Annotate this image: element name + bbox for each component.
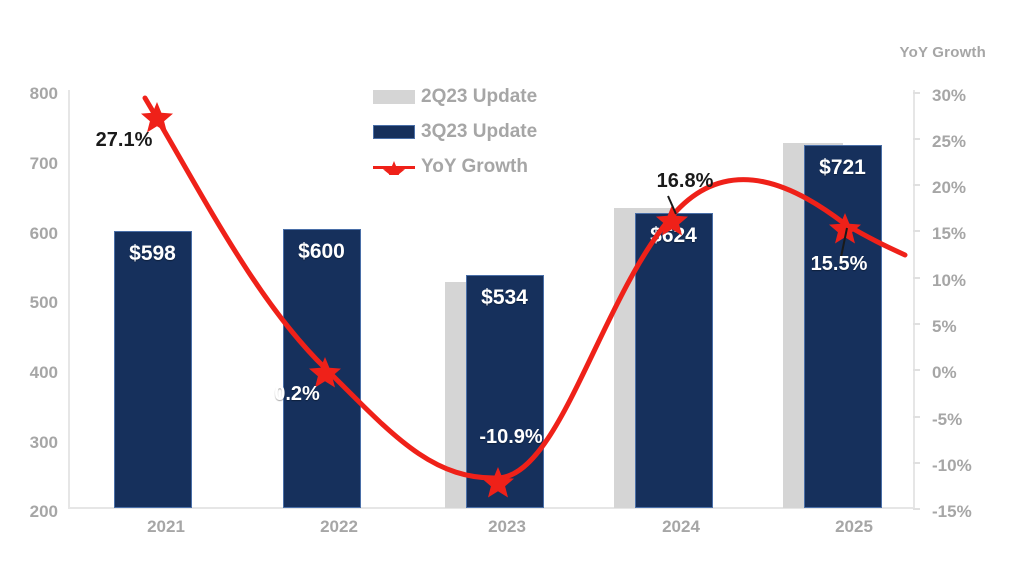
bar-3q23-2024 — [635, 213, 713, 508]
x-axis-tick-2022: 2022 — [279, 518, 399, 535]
y-axis-tick-600: 600 — [6, 225, 58, 242]
x-axis-tick-2025: 2025 — [794, 518, 914, 535]
bar-3q23-2023 — [466, 275, 544, 508]
growth-label-2021: 27.1% — [54, 130, 194, 150]
y2-axis-tick-neg5: -5% — [932, 411, 1002, 428]
bar-label-2025: $721 — [783, 157, 903, 178]
y-axis-tick-800: 800 — [6, 85, 58, 102]
legend-item-3q23[interactable]: 3Q23 Update — [373, 121, 537, 143]
x-axis-tick-2023: 2023 — [447, 518, 567, 535]
y-axis-tick-200: 200 — [6, 503, 58, 520]
bar-curr-swatch-icon — [373, 125, 415, 139]
y2-tickmark-30 — [913, 92, 920, 94]
legend-item-2q23[interactable]: 2Q23 Update — [373, 86, 537, 108]
legend-label-yoy-growth: YoY Growth — [421, 156, 528, 178]
chart-container: YoY Growth 200 300 400 500 600 700 800 -… — [0, 0, 1024, 576]
bar-prev-swatch-icon — [373, 90, 415, 104]
right-axis-title: YoY Growth — [900, 44, 986, 61]
y2-axis-tick-25: 25% — [932, 133, 1002, 150]
legend-label-2q23: 2Q23 Update — [421, 86, 537, 108]
bar-label-2021: $598 — [93, 243, 213, 264]
y-axis-tick-400: 400 — [6, 364, 58, 381]
bar-label-2022: $600 — [262, 241, 382, 262]
bar-3q23-2022 — [283, 229, 361, 508]
y-axis-tick-700: 700 — [6, 155, 58, 172]
bar-3q23-2021 — [114, 231, 192, 508]
y2-tickmark-5 — [913, 323, 920, 325]
y2-axis-tick-30: 30% — [932, 87, 1002, 104]
y2-tickmark-15 — [913, 230, 920, 232]
y2-axis-tick-5: 5% — [932, 318, 1002, 335]
y-axis-tick-500: 500 — [6, 294, 58, 311]
right-axis-line — [913, 90, 915, 509]
legend-item-yoy-growth[interactable]: YoY Growth — [373, 156, 537, 178]
y2-tickmark-neg15 — [913, 508, 920, 510]
y2-tickmark-0 — [913, 369, 920, 371]
x-axis-tick-2024: 2024 — [621, 518, 741, 535]
y2-tickmark-neg5 — [913, 416, 920, 418]
y2-axis-tick-0: 0% — [932, 364, 1002, 381]
y2-axis-tick-15: 15% — [932, 225, 1002, 242]
growth-label-2023: -10.9% — [441, 427, 581, 447]
bar-3q23-2025 — [804, 145, 882, 508]
y-axis-tick-300: 300 — [6, 434, 58, 451]
y2-axis-tick-neg15: -15% — [932, 503, 1002, 520]
bar-label-2024: $624 — [614, 225, 734, 246]
growth-label-2025: 15.5% — [769, 254, 909, 274]
growth-label-2022: 0.2% — [227, 384, 367, 404]
y2-tickmark-25 — [913, 138, 920, 140]
line-star-swatch-icon — [373, 159, 415, 175]
y2-axis-tick-10: 10% — [932, 272, 1002, 289]
growth-label-2024: 16.8% — [615, 171, 755, 191]
y2-tickmark-neg10 — [913, 462, 920, 464]
y2-axis-tick-neg10: -10% — [932, 457, 1002, 474]
y2-tickmark-10 — [913, 277, 920, 279]
chart-legend: 2Q23 Update 3Q23 Update YoY Growth — [373, 86, 537, 178]
legend-label-3q23: 3Q23 Update — [421, 121, 537, 143]
y2-tickmark-20 — [913, 184, 920, 186]
y2-axis-tick-20: 20% — [932, 179, 1002, 196]
x-axis-tick-2021: 2021 — [106, 518, 226, 535]
bar-label-2023: $534 — [445, 287, 565, 308]
